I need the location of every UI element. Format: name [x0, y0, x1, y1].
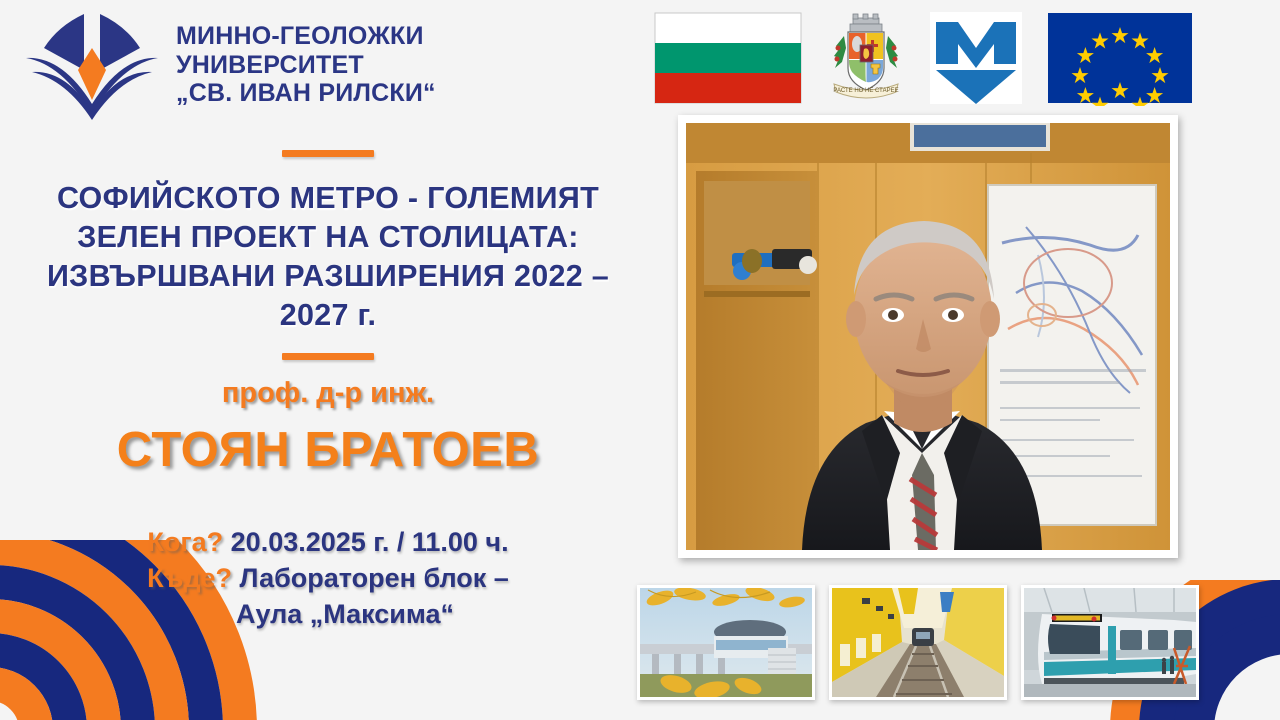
event-when-label: Кога?: [147, 527, 223, 557]
metro-tunnel-station-photo: [829, 585, 1007, 700]
svg-text:РАСТЕ НО НЕ СТАРЕЕ: РАСТЕ НО НЕ СТАРЕЕ: [833, 88, 898, 94]
speaker-portrait: [678, 115, 1178, 558]
university-name-line1: МИННО-ГЕОЛОЖКИ: [176, 22, 436, 51]
divider-top: [282, 150, 374, 157]
event-details: Кога? 20.03.2025 г. / 11.00 ч. Къде? Лаб…: [18, 524, 638, 632]
metro-elevated-station-image: [640, 588, 812, 697]
speaker-block: проф. д-р инж. СТОЯН БРАТОЕВ: [18, 376, 638, 480]
event-when-line: Кога? 20.03.2025 г. / 11.00 ч.: [18, 524, 638, 560]
university-name-line2: УНИВЕРСИТЕТ: [176, 51, 436, 80]
university-name-line3: „СВ. ИВАН РИЛСКИ“: [176, 79, 436, 108]
partner-logos: РАСТЕ НО НЕ СТАРЕЕ: [654, 12, 1194, 104]
university-brand: МИННО-ГЕОЛОЖКИ УНИВЕРСИТЕТ „СВ. ИВАН РИЛ…: [22, 8, 436, 120]
eu-flag-icon: [1046, 10, 1194, 106]
metro-tunnel-station-image: [832, 588, 1004, 697]
metro-photo-strip: [637, 585, 1199, 700]
event-where-line-2: Аула „Максима“: [18, 596, 638, 632]
speaker-portrait-image: [686, 123, 1170, 550]
lecture-title: СОФИЙСКОТО МЕТРО - ГОЛЕМИЯТ ЗЕЛЕН ПРОЕКТ…: [18, 179, 638, 335]
event-where-value-2: Аула „Максима“: [236, 599, 454, 629]
speaker-rank: проф. д-р инж.: [18, 376, 638, 410]
sofia-coat-of-arms: РАСТЕ НО НЕ СТАРЕЕ: [826, 12, 906, 104]
event-where-line: Къде? Лабораторен блок –: [18, 560, 638, 596]
mining-geology-university-logo-icon: [22, 8, 162, 120]
sofia-metro-logo: [930, 12, 1022, 104]
event-when-value: 20.03.2025 г. / 11.00 ч.: [231, 527, 509, 557]
sofia-coat-of-arms-icon: РАСТЕ НО НЕ СТАРЕЕ: [826, 12, 906, 104]
metro-train-image: [1024, 588, 1196, 697]
poster-header: МИННО-ГЕОЛОЖКИ УНИВЕРСИТЕТ „СВ. ИВАН РИЛ…: [0, 0, 1280, 120]
bulgarian-flag: [654, 12, 802, 104]
european-union-flag: [1046, 12, 1194, 104]
event-where-value-1: Лабораторен блок –: [240, 563, 509, 593]
bulgarian-flag-icon: [654, 12, 802, 104]
poster-left-column: СОФИЙСКОТО МЕТРО - ГОЛЕМИЯТ ЗЕЛЕН ПРОЕКТ…: [18, 150, 638, 632]
sofia-metro-m-icon: [930, 12, 1022, 104]
metro-elevated-station-photo: [637, 585, 815, 700]
metro-train-photo: [1021, 585, 1199, 700]
event-where-label: Къде?: [147, 563, 232, 593]
divider-bottom: [282, 353, 374, 360]
speaker-name: СТОЯН БРАТОЕВ: [18, 420, 638, 480]
university-name: МИННО-ГЕОЛОЖКИ УНИВЕРСИТЕТ „СВ. ИВАН РИЛ…: [176, 8, 436, 108]
